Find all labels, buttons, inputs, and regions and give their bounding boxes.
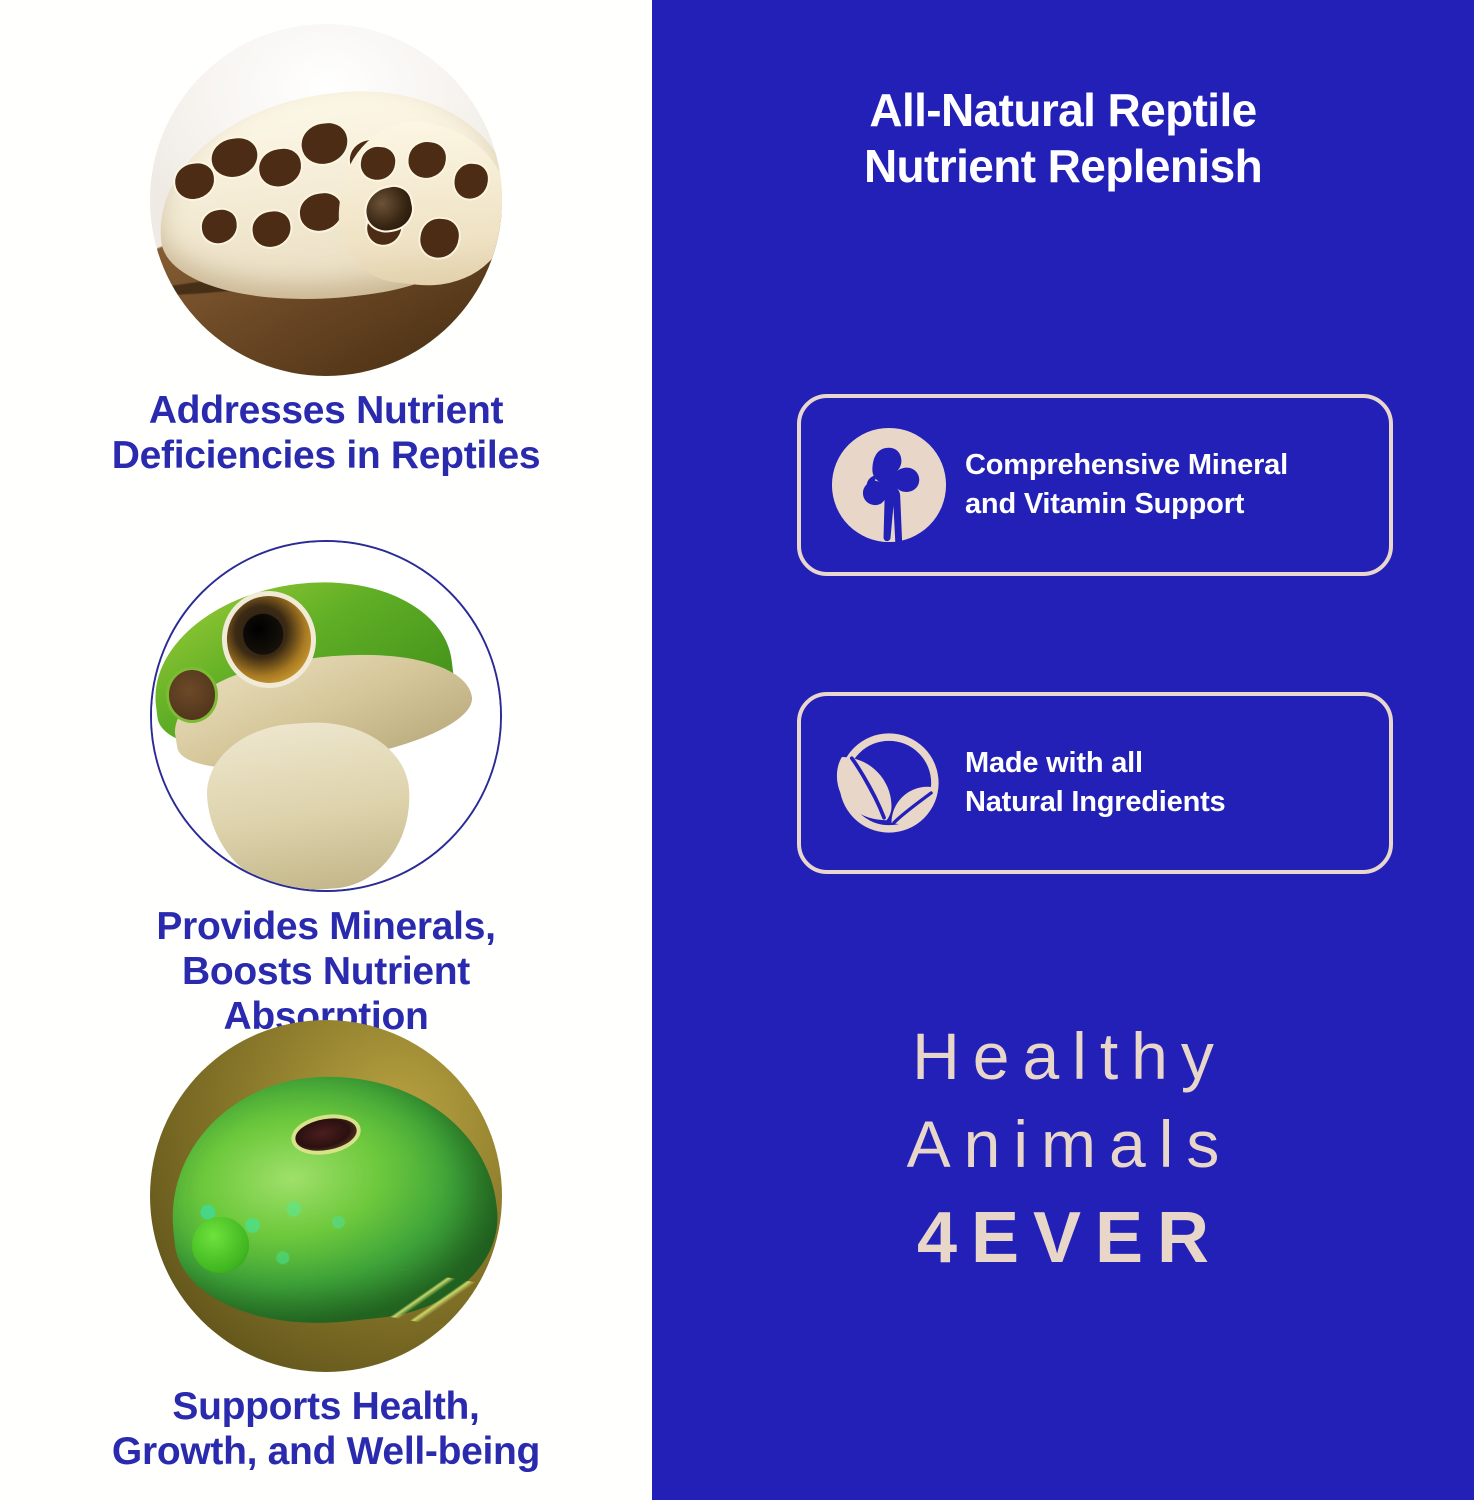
frog-eardrum bbox=[166, 667, 218, 723]
iguana-jowl bbox=[192, 1217, 248, 1273]
feature-caption-3: Supports Health, Growth, and Well-being bbox=[0, 1384, 652, 1474]
caption-line: Supports Health, bbox=[26, 1384, 626, 1429]
left-feature-column: Addresses Nutrient Deficiencies in Repti… bbox=[0, 0, 652, 1500]
gecko-head bbox=[332, 114, 502, 293]
badge-label-1: Comprehensive Mineral and Vitamin Suppor… bbox=[965, 446, 1288, 524]
badge-text-line: Comprehensive Mineral bbox=[965, 446, 1288, 485]
green-frog-photo bbox=[150, 540, 502, 892]
caption-line: Provides Minerals, bbox=[26, 904, 626, 949]
feature-caption-1: Addresses Nutrient Deficiencies in Repti… bbox=[0, 388, 652, 478]
product-infographic: Addresses Nutrient Deficiencies in Repti… bbox=[0, 0, 1474, 1500]
gecko-head-spots bbox=[332, 114, 502, 293]
feature-block-1: Addresses Nutrient Deficiencies in Repti… bbox=[0, 24, 652, 478]
badge-text-line: Made with all bbox=[965, 744, 1225, 783]
caption-line: Growth, and Well-being bbox=[26, 1429, 626, 1474]
green-iguana-photo bbox=[150, 1020, 502, 1372]
brand-line-healthy: Healthy bbox=[692, 1013, 1434, 1101]
feature-badge-mineral-vitamin: Comprehensive Mineral and Vitamin Suppor… bbox=[797, 394, 1393, 576]
leaves-circle-icon bbox=[827, 721, 951, 845]
badge-text-line: Natural Ingredients bbox=[965, 783, 1225, 822]
brand-logo: Healthy Animals 4EVER bbox=[692, 1013, 1434, 1286]
badge-label-2: Made with all Natural Ingredients bbox=[965, 744, 1225, 822]
headline-line: All-Natural Reptile bbox=[692, 82, 1434, 138]
right-blue-panel: All-Natural Reptile Nutrient Replenish C… bbox=[652, 0, 1474, 1500]
caption-line: Addresses Nutrient bbox=[26, 388, 626, 433]
caption-line: Deficiencies in Reptiles bbox=[26, 433, 626, 478]
leopard-gecko-photo bbox=[150, 24, 502, 376]
feature-block-2: Provides Minerals, Boosts Nutrient Absor… bbox=[0, 540, 652, 1040]
caption-line: Boosts Nutrient bbox=[26, 949, 626, 994]
page-title: All-Natural Reptile Nutrient Replenish bbox=[692, 82, 1434, 194]
badge-text-line: and Vitamin Support bbox=[965, 485, 1288, 524]
headline-line: Nutrient Replenish bbox=[692, 138, 1434, 194]
brand-line-4ever: 4EVER bbox=[692, 1191, 1434, 1286]
tree-circle-icon bbox=[827, 423, 951, 547]
feature-badge-natural-ingredients: Made with all Natural Ingredients bbox=[797, 692, 1393, 874]
feature-block-3: Supports Health, Growth, and Well-being bbox=[0, 1020, 652, 1474]
brand-line-animals: Animals bbox=[692, 1101, 1434, 1189]
